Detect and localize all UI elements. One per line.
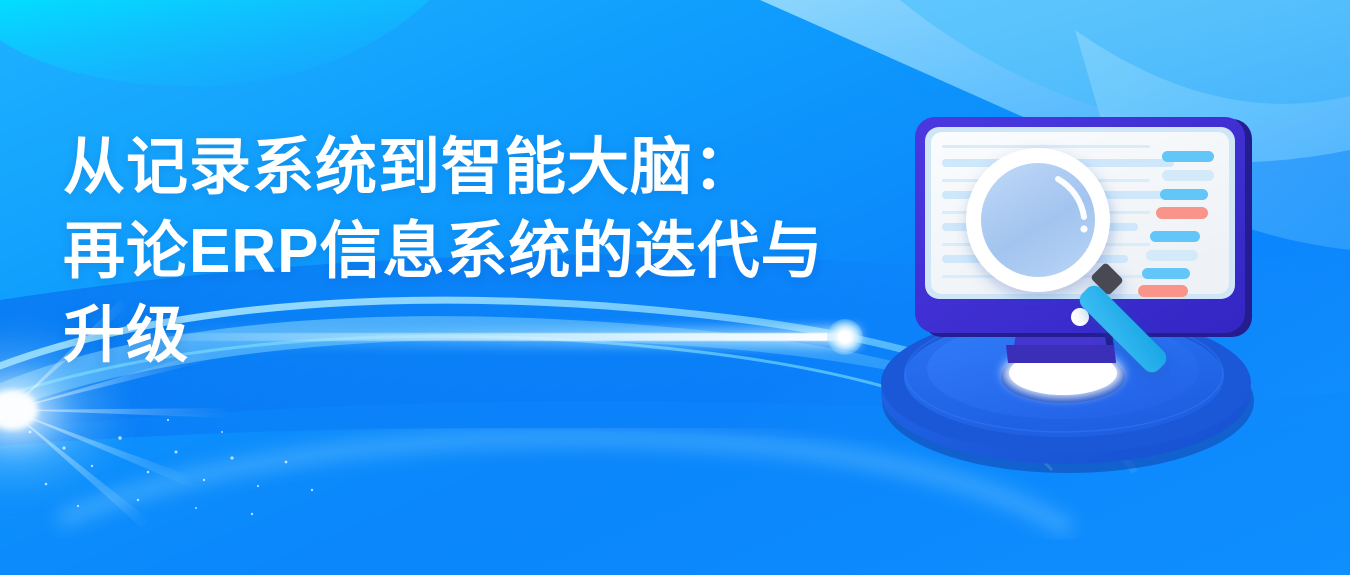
magnifier-lens [981, 163, 1095, 277]
bar-blue-3 [1150, 231, 1200, 242]
page-title: 从记录系统到智能大脑： 再论ERP信息系统的迭代与 升级 [63, 126, 883, 378]
title-line-1: 从记录系统到智能大脑： [63, 126, 883, 210]
banner-hero: 从记录系统到智能大脑： 再论ERP信息系统的迭代与 升级 [0, 0, 1350, 575]
title-line-3: 升级 [63, 294, 883, 378]
monitor-illustration [870, 105, 1270, 525]
power-indicator-dot [1071, 308, 1089, 326]
title-line-2: 再论ERP信息系统的迭代与 [63, 210, 883, 294]
lens-highlight-dot [1080, 225, 1087, 232]
sparkle-particles [29, 419, 314, 515]
bar-blue-2 [1160, 189, 1208, 200]
bar-blue-1 [1162, 151, 1214, 162]
bar-pale-2 [1146, 250, 1198, 261]
bar-red-2 [1138, 285, 1188, 297]
bar-pale-1 [1162, 170, 1214, 181]
bar-blue-4 [1142, 268, 1190, 279]
bar-red-1 [1156, 207, 1208, 219]
wave-cyan-topleft [0, 0, 430, 86]
